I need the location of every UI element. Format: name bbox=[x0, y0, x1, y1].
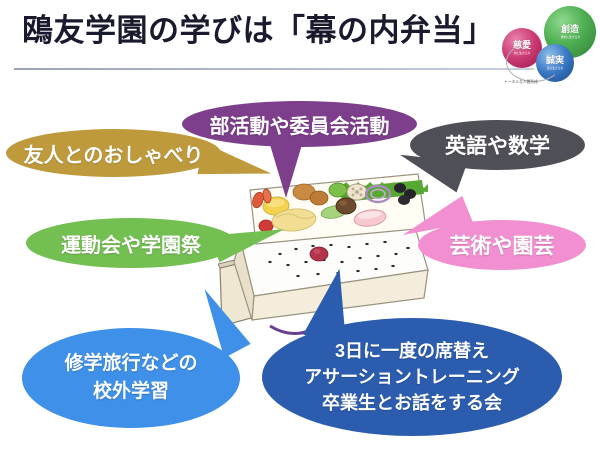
logo-sphere-souzou-sublabel: 豊かに生きる力 bbox=[560, 36, 579, 39]
bubble-program-label: 3日に一度の席替え アサーショントレーニング 卒業生とお話をする会 bbox=[304, 338, 520, 416]
bubble-chat-label: 友人とのおしゃべり bbox=[24, 139, 204, 168]
bubble-club-label: 部活動や委員会活動 bbox=[210, 110, 390, 139]
bubble-trip-label: 修学旅行などの 校外学習 bbox=[64, 350, 197, 407]
bubble-art-label: 芸術や園芸 bbox=[450, 230, 555, 260]
bubble-chat-with-friends[interactable]: 友人とのおしゃべり bbox=[6, 129, 221, 177]
bubble-festival-label: 運動会や学園祭 bbox=[61, 229, 201, 258]
logo-sphere-souzou-label: 創造 bbox=[561, 25, 579, 34]
bubble-subject-label: 英語や数学 bbox=[445, 130, 550, 160]
bubble-tail-club bbox=[268, 138, 304, 198]
umeboshi bbox=[310, 247, 328, 261]
presentation-slide: 鴎友学園の学びは「幕の内弁当」 創造 豊かに生きる力 慈愛 共に生きる力 誠実 … bbox=[0, 0, 600, 450]
title-divider bbox=[14, 68, 534, 70]
logo-arc-decoration bbox=[506, 42, 562, 82]
school-logo: 創造 豊かに生きる力 慈愛 共に生きる力 誠実 自ら生きる力 トータルな人間形成 bbox=[500, 6, 596, 90]
logo-caption: トータルな人間形成 bbox=[504, 80, 538, 85]
bubble-sports-day-and-school-festival[interactable]: 運動会や学園祭 bbox=[26, 218, 236, 268]
page-title: 鴎友学園の学びは「幕の内弁当」 bbox=[22, 14, 495, 48]
bubble-school-trip[interactable]: 修学旅行などの 校外学習 bbox=[22, 328, 240, 428]
